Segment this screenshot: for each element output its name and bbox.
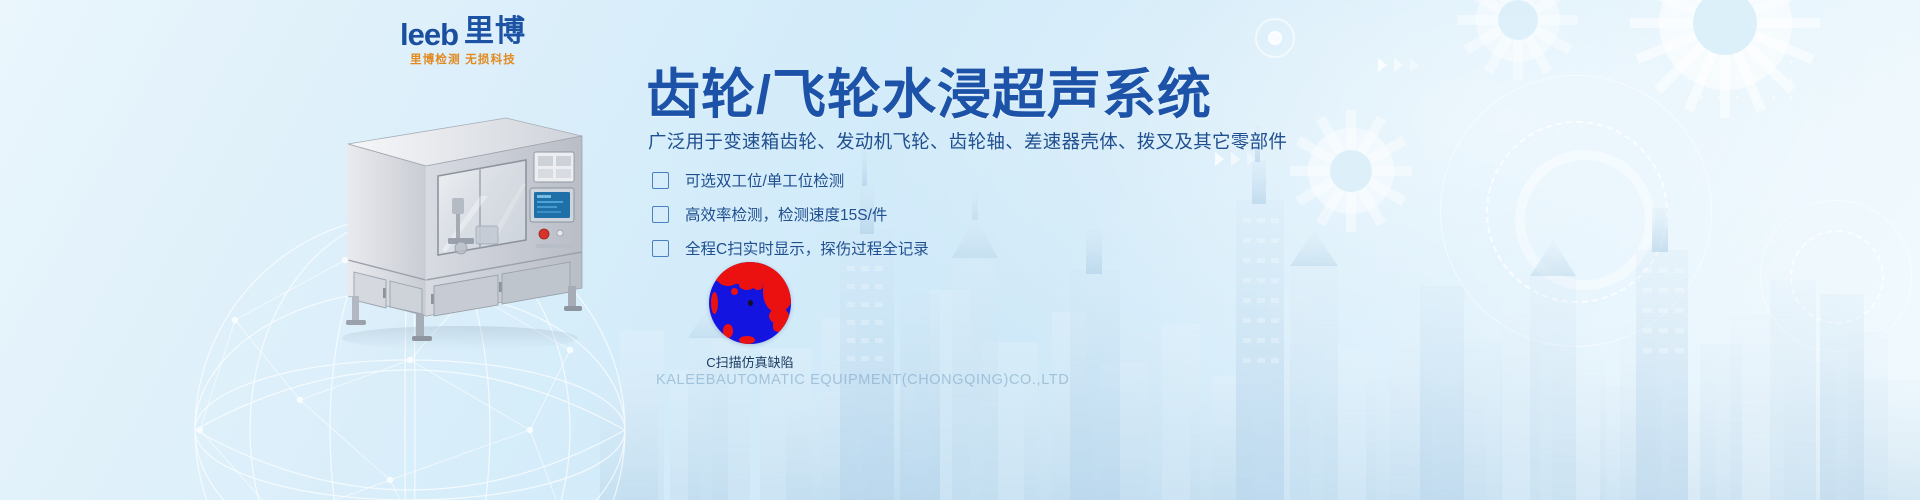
- list-item[interactable]: 可选双工位/单工位检测: [652, 163, 929, 197]
- checkbox-empty-icon[interactable]: [652, 172, 669, 189]
- chevron-right-icon: [1378, 58, 1387, 72]
- checkbox-empty-icon[interactable]: [652, 240, 669, 257]
- hero-subtitle: 广泛用于变速箱齿轮、发动机飞轮、齿轮轴、差速器壳体、拨叉及其它零部件: [648, 128, 1287, 154]
- cscan-caption: C扫描仿真缺陷: [670, 352, 830, 371]
- list-item[interactable]: 全程C扫实时显示，探伤过程全记录: [652, 231, 929, 265]
- checkbox-empty-icon[interactable]: [652, 206, 669, 223]
- cscan-center-marker: [748, 300, 753, 306]
- feature-label: 高效率检测，检测速度15S/件: [685, 203, 887, 225]
- brand-logo[interactable]: leeb 里博 里博检测 无损科技: [348, 6, 578, 50]
- feature-label: 可选双工位/单工位检测: [685, 169, 844, 191]
- gear-icon: [1458, 0, 1578, 80]
- promo-banner: leeb 里博 里博检测 无损科技: [0, 0, 1920, 500]
- list-item[interactable]: 高效率检测，检测速度15S/件: [652, 197, 929, 231]
- dot-decor: [1268, 31, 1282, 45]
- chevron-right-icon: [1394, 58, 1403, 72]
- page-title: 齿轮/飞轮水浸超声系统: [646, 50, 1212, 129]
- feature-label: 全程C扫实时显示，探伤过程全记录: [685, 237, 929, 259]
- ring-decor: [1255, 18, 1295, 58]
- feature-list: 可选双工位/单工位检测 高效率检测，检测速度15S/件 全程C扫实时显示，探伤过…: [652, 163, 929, 265]
- logo-latin-text: leeb: [400, 20, 458, 50]
- cscan-result-disc-icon: [709, 262, 791, 344]
- logo-chinese-text: 里博: [464, 6, 526, 50]
- logo-tagline: 里博检测 无损科技: [348, 51, 578, 67]
- chevron-right-icon: [1410, 58, 1419, 72]
- cscan-figure: C扫描仿真缺陷: [670, 262, 830, 371]
- company-watermark: KALEEBAUTOMATIC EQUIPMENT(CHONGQING)CO.,…: [656, 372, 1069, 388]
- ultrasonic-testing-machine-photo: [330, 100, 600, 350]
